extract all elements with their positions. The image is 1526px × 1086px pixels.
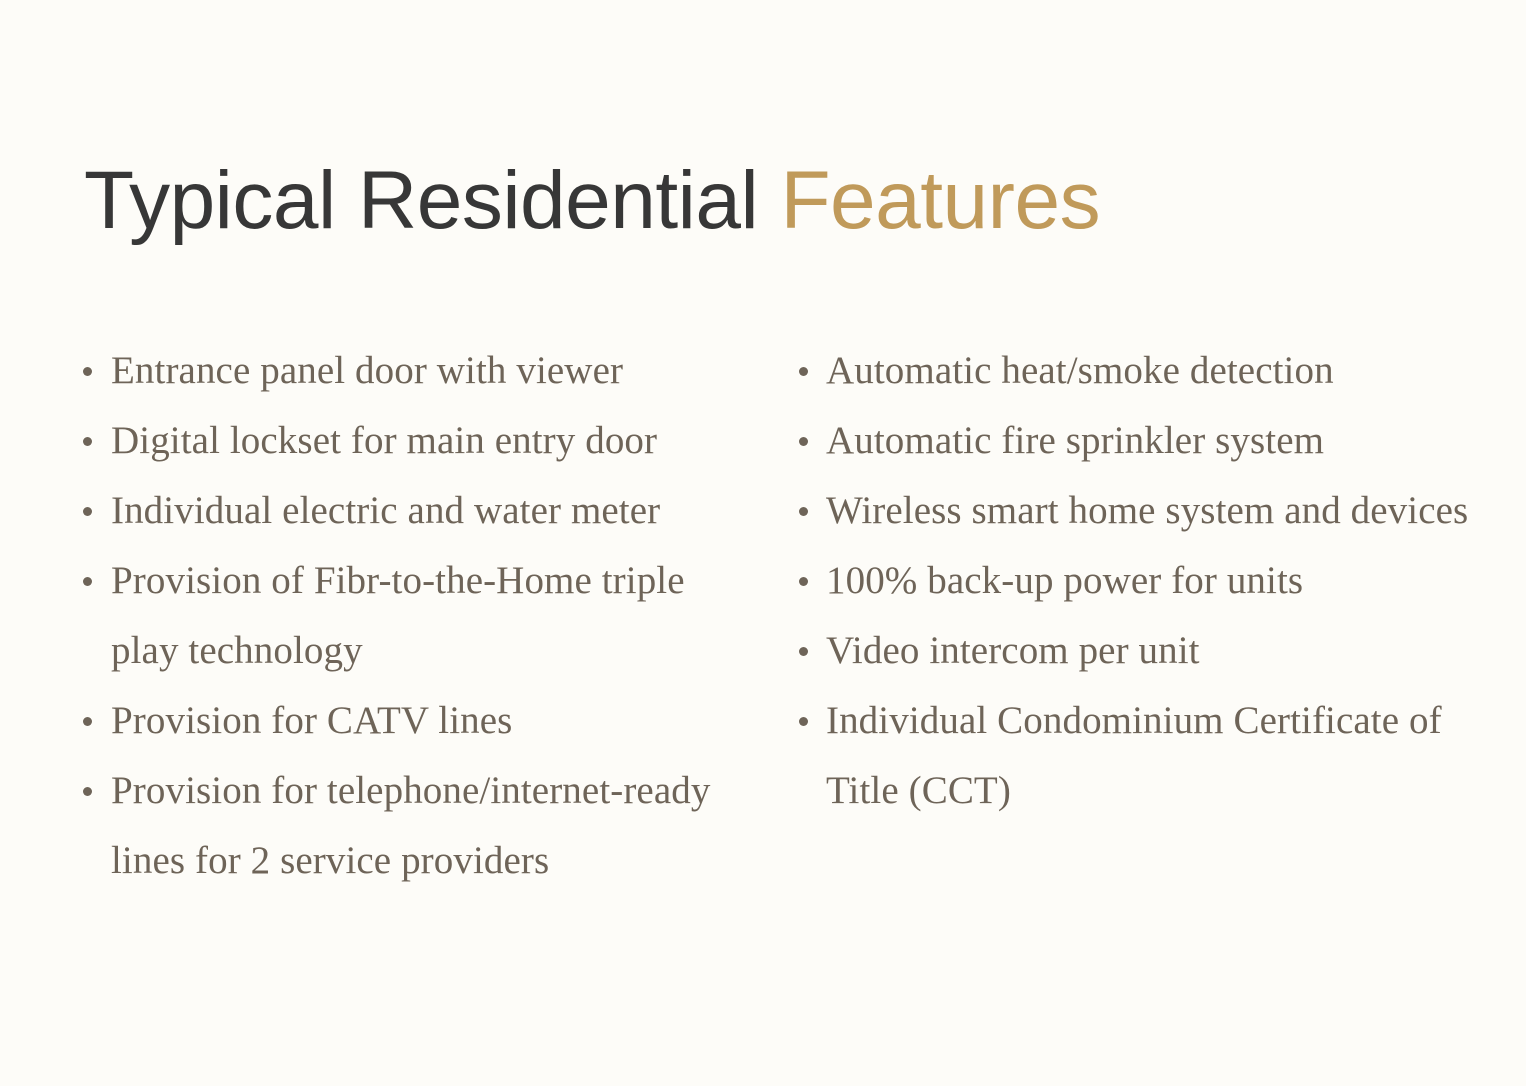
bullet-icon: [799, 577, 808, 586]
bullet-icon: [83, 437, 92, 446]
feature-column-right: Automatic heat/smoke detection Automatic…: [780, 336, 1526, 826]
feature-columns: Entrance panel door with viewer Digital …: [0, 336, 1526, 896]
feature-label: Entrance panel door with viewer: [111, 349, 623, 392]
list-item: Video intercom per unit: [794, 616, 1496, 686]
feature-label: Automatic fire sprinkler system: [826, 419, 1324, 462]
title-heading: Typical Residential Features: [84, 158, 1464, 244]
feature-label: Individual Condominium Certificate of Ti…: [826, 699, 1442, 812]
list-item: Individual electric and water meter: [78, 476, 752, 546]
feature-label: Automatic heat/smoke detection: [826, 349, 1334, 392]
list-item: Individual Condominium Certificate of Ti…: [794, 686, 1496, 826]
page-title: Typical Residential Features: [84, 158, 1464, 244]
list-item: 100% back-up power for units: [794, 546, 1496, 616]
bullet-icon: [799, 717, 808, 726]
title-space: [758, 155, 780, 246]
feature-label: Provision of Fibr-to-the-Home triple pla…: [111, 559, 685, 672]
bullet-icon: [83, 577, 92, 586]
feature-label: Digital lockset for main entry door: [111, 419, 657, 462]
bullet-icon: [83, 367, 92, 376]
feature-label: 100% back-up power for units: [826, 559, 1303, 602]
bullet-icon: [83, 507, 92, 516]
bullet-icon: [799, 367, 808, 376]
slide-canvas: Typical Residential Features Entrance pa…: [0, 0, 1526, 1086]
feature-list-right: Automatic heat/smoke detection Automatic…: [794, 336, 1496, 826]
title-primary-text: Typical Residential: [84, 155, 758, 246]
list-item: Wireless smart home system and devices: [794, 476, 1496, 546]
list-item: Provision for CATV lines: [78, 686, 752, 756]
feature-label: Individual electric and water meter: [111, 489, 660, 532]
list-item: Provision of Fibr-to-the-Home triple pla…: [78, 546, 752, 686]
feature-label: Wireless smart home system and devices: [826, 489, 1468, 532]
list-item: Entrance panel door with viewer: [78, 336, 752, 406]
bullet-icon: [83, 717, 92, 726]
list-item: Automatic fire sprinkler system: [794, 406, 1496, 476]
feature-label: Video intercom per unit: [826, 629, 1200, 672]
title-accent-text: Features: [780, 155, 1100, 246]
feature-column-left: Entrance panel door with viewer Digital …: [0, 336, 780, 896]
bullet-icon: [83, 787, 92, 796]
feature-label: Provision for CATV lines: [111, 699, 512, 742]
feature-list-left: Entrance panel door with viewer Digital …: [78, 336, 752, 896]
list-item: Automatic heat/smoke detection: [794, 336, 1496, 406]
bullet-icon: [799, 507, 808, 516]
list-item: Digital lockset for main entry door: [78, 406, 752, 476]
bullet-icon: [799, 437, 808, 446]
bullet-icon: [799, 647, 808, 656]
feature-label: Provision for telephone/internet-ready l…: [111, 769, 710, 882]
list-item: Provision for telephone/internet-ready l…: [78, 756, 752, 896]
